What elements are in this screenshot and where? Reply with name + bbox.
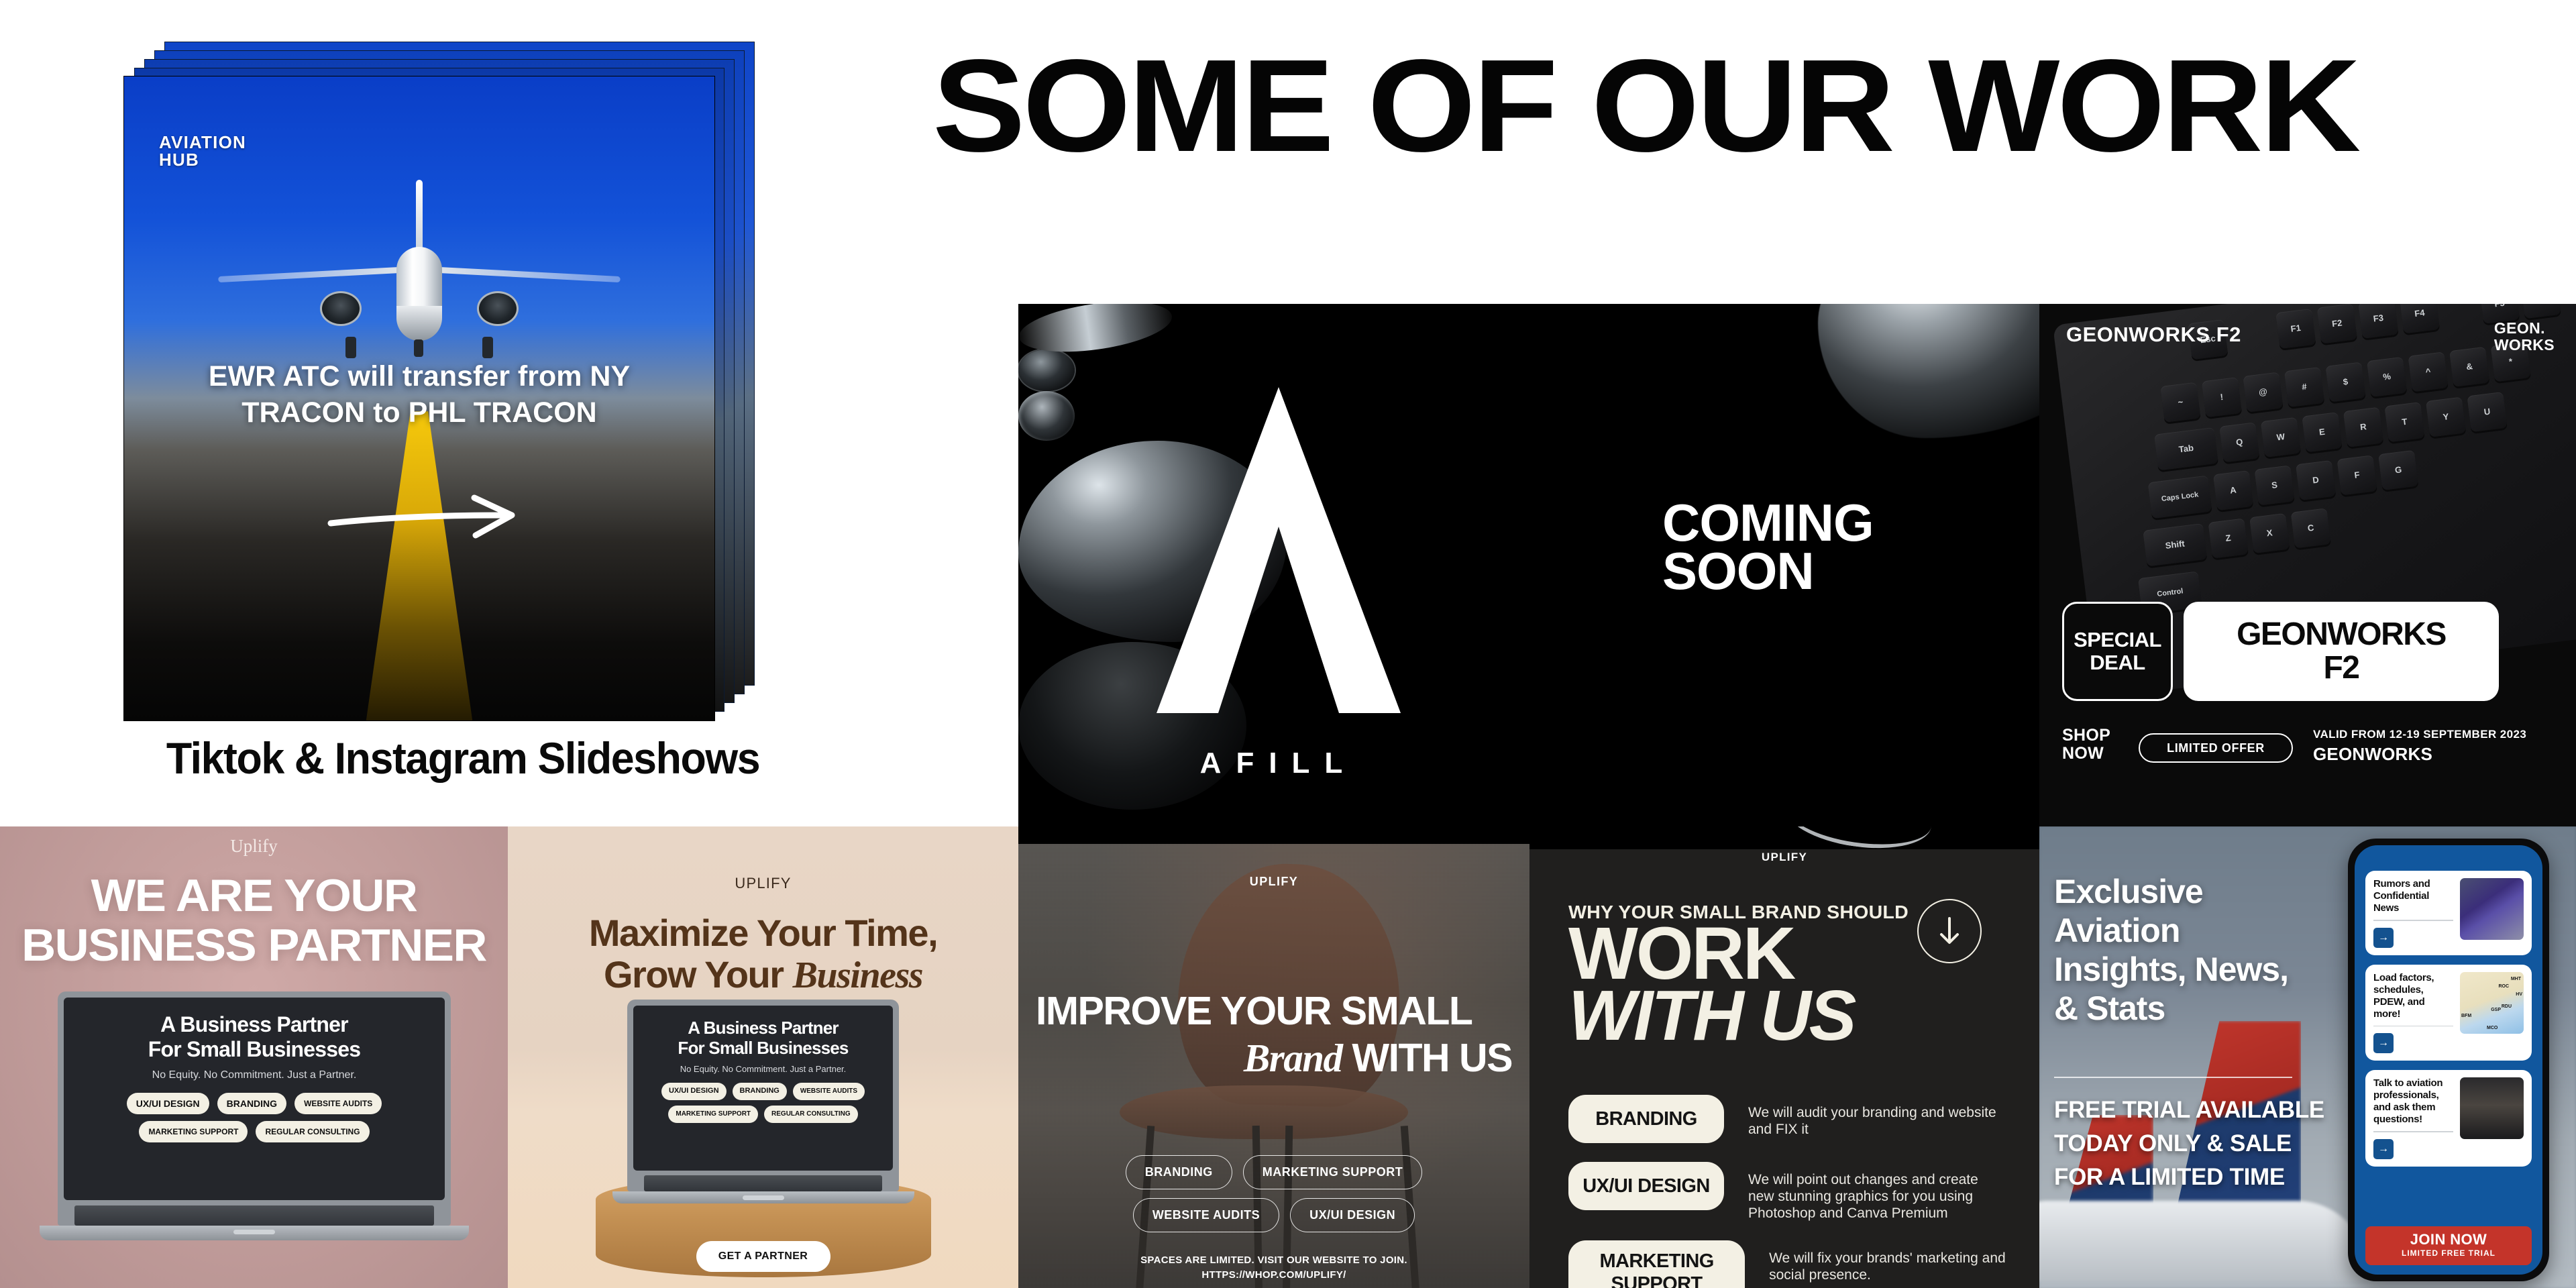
shop-now-label[interactable]: SHOP NOW bbox=[2062, 727, 2110, 763]
laptop-mockup: A Business Partner For Small Businesses … bbox=[627, 1000, 899, 1203]
key-6: ^ bbox=[2408, 352, 2449, 392]
aviation-offer-panel[interactable]: Exclusive Aviation Insights, News, & Sta… bbox=[2039, 826, 2576, 1288]
slideshow-showcase: AVIATION HUB EWR ATC will transfer from … bbox=[124, 42, 802, 786]
service-pill[interactable]: UX/UI DESIGN bbox=[661, 1083, 727, 1100]
card-title: Rumors and Confidential News bbox=[2373, 878, 2453, 914]
product-line2: F2 bbox=[2237, 651, 2446, 685]
uplify-logo: UPLIFY bbox=[508, 875, 1018, 892]
aviation-headline-line4: & Stats bbox=[2054, 989, 2336, 1028]
service-pill[interactable]: WEBSITE AUDITS bbox=[1133, 1198, 1279, 1232]
key-z: Z bbox=[2208, 518, 2249, 558]
key-f: F bbox=[2337, 455, 2377, 495]
join-now-sublabel: LIMITED FREE TRIAL bbox=[2365, 1248, 2532, 1258]
brand-line-1: AVIATION bbox=[159, 133, 246, 151]
list-item: BRANDING We will audit your branding and… bbox=[1568, 1095, 2012, 1143]
geonworks-logo: GEON. WORKS bbox=[2494, 320, 2555, 354]
bottom-showcase-row: Uplify WE ARE YOUR BUSINESS PARTNER A Bu… bbox=[0, 826, 2576, 1288]
chair-headline: IMPROVE YOUR SMALL Brand WITH US bbox=[1036, 987, 1512, 1081]
card-title: Load factors, schedules, PDEW, and more! bbox=[2373, 972, 2453, 1020]
afill-coming-soon-panel[interactable]: AFILL COMING SOON bbox=[1018, 304, 2039, 826]
service-pill[interactable]: UX/UI DESIGN bbox=[1290, 1198, 1415, 1232]
list-item[interactable]: Load factors, schedules, PDEW, and more!… bbox=[2365, 965, 2532, 1061]
map-label: ROC bbox=[2498, 984, 2509, 989]
screen-title-line1: A Business Partner bbox=[76, 1012, 433, 1037]
service-pill[interactable]: MARKETING SUPPORT bbox=[1243, 1155, 1423, 1189]
list-item: UX/UI DESIGN We will point out changes a… bbox=[1568, 1162, 2012, 1222]
laptop-mockup: A Business Partner For Small Businesses … bbox=[58, 991, 451, 1240]
subhead-line1: FREE TRIAL AVAILABLE bbox=[2054, 1093, 2336, 1127]
geonworks-title: GEONWORKS F2 bbox=[2066, 323, 2241, 347]
coming-soon-text: COMING SOON bbox=[1662, 498, 1984, 595]
valid-from-text: VALID FROM 12-19 SEPTEMBER 2023 bbox=[2313, 728, 2526, 741]
key-4: $ bbox=[2325, 362, 2365, 402]
work-headline-line2: WITH US bbox=[1568, 982, 1855, 1049]
service-tag[interactable]: UX/UI DESIGN bbox=[1568, 1162, 1724, 1210]
uplify-logo-serif: Uplify bbox=[0, 836, 508, 857]
shop-line1: SHOP bbox=[2062, 727, 2110, 745]
shop-line2: NOW bbox=[2062, 745, 2110, 763]
geonworks-promo-panel[interactable]: Esc F1 F2 F3 F4 F5 F6 ~ ! @ # $ % ^ & * … bbox=[2039, 304, 2576, 826]
map-label: RDU bbox=[2502, 1004, 2512, 1009]
key-y: Y bbox=[2426, 397, 2466, 437]
chair-headline-italic: Brand bbox=[1244, 1036, 1342, 1080]
key-1: ! bbox=[2202, 377, 2242, 417]
service-list: BRANDING We will audit your branding and… bbox=[1568, 1095, 2012, 1288]
key-e: E bbox=[2302, 412, 2342, 452]
aviation-hub-logo: AVIATION HUB bbox=[159, 133, 246, 168]
key-f4: F4 bbox=[2400, 304, 2440, 333]
aviation-subheadline: FREE TRIAL AVAILABLE TODAY ONLY & SALE F… bbox=[2054, 1093, 2336, 1194]
footer-line1: SPACES ARE LIMITED. VISIT OUR WEBSITE TO… bbox=[1018, 1253, 1529, 1268]
key-g: G bbox=[2378, 450, 2418, 490]
key-d: D bbox=[2296, 460, 2336, 500]
subhead-line3: FOR A LIMITED TIME bbox=[2054, 1161, 2336, 1194]
footer-url[interactable]: HTTPS://WHOP.COM/UPLIFY/ bbox=[1018, 1268, 1529, 1283]
key-c: C bbox=[2291, 508, 2331, 548]
arrow-right-icon[interactable]: → bbox=[2373, 1139, 2394, 1159]
divider bbox=[2054, 1077, 2292, 1078]
work-showcase-canvas: SOME OF OUR WORK AVIATION bbox=[0, 0, 2576, 1288]
airplane-fuselage-icon bbox=[2039, 1201, 2368, 1281]
key-caps-lock: Caps Lock bbox=[2148, 476, 2212, 519]
key-f3: F3 bbox=[2358, 304, 2398, 339]
key-t: T bbox=[2384, 402, 2424, 442]
service-pill[interactable]: BRANDING bbox=[217, 1093, 286, 1114]
map-label: GSP bbox=[2491, 1008, 2501, 1012]
service-pill[interactable]: WEBSITE AUDITS bbox=[793, 1083, 865, 1100]
service-pill[interactable]: REGULAR CONSULTING bbox=[256, 1121, 369, 1142]
key-7: & bbox=[2449, 347, 2489, 387]
business-partner-pink-panel[interactable]: Uplify WE ARE YOUR BUSINESS PARTNER A Bu… bbox=[0, 826, 508, 1288]
beige-headline: Maximize Your Time, Grow Your Business bbox=[528, 912, 998, 996]
liquid-droplet-icon bbox=[1018, 350, 1075, 391]
list-item[interactable]: Rumors and Confidential News → bbox=[2365, 871, 2532, 955]
page-title: SOME OF OUR WORK bbox=[932, 52, 2576, 166]
key-q: Q bbox=[2219, 422, 2259, 462]
key-tilde: ~ bbox=[2160, 382, 2200, 423]
pink-headline: WE ARE YOUR BUSINESS PARTNER bbox=[0, 871, 508, 970]
service-tag[interactable]: MARKETING SUPPORT bbox=[1568, 1240, 1745, 1288]
service-pill[interactable]: WEBSITE AUDITS bbox=[294, 1093, 382, 1114]
brand-line-2: HUB bbox=[159, 151, 246, 168]
maximize-time-beige-panel[interactable]: UPLIFY Maximize Your Time, Grow Your Bus… bbox=[508, 826, 1018, 1288]
panel-top-strip bbox=[1529, 826, 2039, 849]
chair-headline-line1: IMPROVE YOUR SMALL bbox=[1036, 987, 1512, 1034]
key-f2: F2 bbox=[2317, 304, 2357, 343]
map-label: MCO bbox=[2487, 1026, 2498, 1030]
key-u: U bbox=[2467, 392, 2507, 432]
arrow-down-icon[interactable] bbox=[1917, 899, 1982, 963]
subhead-line2: TODAY ONLY & SALE bbox=[2054, 1127, 2336, 1161]
beige-headline-line2: Grow Your Business bbox=[528, 954, 998, 996]
screen-subtitle: No Equity. No Commitment. Just a Partner… bbox=[76, 1069, 433, 1081]
screen-title-line2: For Small Businesses bbox=[643, 1038, 883, 1058]
phone-mockup: Rumors and Confidential News → Load fact… bbox=[2348, 839, 2549, 1281]
aviation-headline: Exclusive Aviation Insights, News, & Sta… bbox=[2054, 872, 2336, 1028]
join-now-label: JOIN NOW bbox=[2365, 1232, 2532, 1248]
key-f1: F1 bbox=[2275, 309, 2316, 349]
geon-mark-line1: GEON. bbox=[2494, 320, 2555, 337]
join-now-button[interactable]: JOIN NOW LIMITED FREE TRIAL bbox=[2365, 1226, 2532, 1265]
service-description: We will point out changes and create new… bbox=[1748, 1162, 2003, 1222]
afill-wordmark: AFILL bbox=[1138, 747, 1419, 780]
map-label: HV bbox=[2516, 992, 2522, 997]
list-item[interactable]: Talk to aviation professionals, and ask … bbox=[2365, 1070, 2532, 1167]
uplify-logo: UPLIFY bbox=[1018, 875, 1529, 889]
slideshow-front-card[interactable]: AVIATION HUB EWR ATC will transfer from … bbox=[124, 76, 714, 720]
divider bbox=[2373, 1026, 2453, 1027]
key-w: W bbox=[2261, 417, 2301, 458]
divider bbox=[2373, 1131, 2453, 1132]
uplify-logo: UPLIFY bbox=[1529, 851, 2039, 864]
chair-headline-plain: WITH US bbox=[1342, 1036, 1512, 1080]
service-pill[interactable]: BRANDING bbox=[1126, 1155, 1232, 1189]
key-tab: Tab bbox=[2154, 427, 2218, 471]
right-arrow-icon bbox=[325, 492, 527, 546]
chair-headline-line2: Brand WITH US bbox=[1036, 1034, 1512, 1081]
pink-headline-line2: BUSINESS PARTNER bbox=[0, 920, 508, 970]
route-map-thumbnail: MHT ROC HV RDU GSP BFM MCO bbox=[2460, 972, 2524, 1034]
service-pill[interactable]: REGULAR CONSULTING bbox=[764, 1106, 858, 1123]
beige-headline-plain: Grow Your bbox=[604, 953, 793, 996]
improve-brand-chair-panel[interactable]: UPLIFY IMPROVE YOUR SMALL Brand WITH US … bbox=[1018, 826, 1529, 1288]
valid-brand-text: GEONWORKS bbox=[2313, 744, 2432, 765]
liquid-blob-icon bbox=[1818, 304, 2039, 438]
riyadh-air-photo bbox=[2460, 878, 2524, 940]
service-pill[interactable]: MARKETING SUPPORT bbox=[139, 1121, 248, 1142]
arrow-right-icon[interactable]: → bbox=[2373, 1033, 2394, 1053]
phone-screen: Rumors and Confidential News → Load fact… bbox=[2355, 845, 2542, 1275]
screen-subtitle: No Equity. No Commitment. Just a Partner… bbox=[643, 1064, 883, 1074]
limited-offer-badge[interactable]: LIMITED OFFER bbox=[2139, 733, 2293, 763]
beige-headline-line1: Maximize Your Time, bbox=[528, 912, 998, 954]
soon-line: SOON bbox=[1662, 547, 1984, 595]
key-3: # bbox=[2284, 367, 2324, 407]
special-label: SPECIAL bbox=[2074, 629, 2161, 651]
product-name-badge: GEONWORKS F2 bbox=[2184, 602, 2499, 701]
aviation-headline-line2: Aviation bbox=[2054, 911, 2336, 950]
service-pill[interactable]: UX/UI DESIGN bbox=[127, 1093, 209, 1114]
get-a-partner-button[interactable]: GET A PARTNER bbox=[696, 1241, 830, 1272]
service-pill[interactable]: MARKETING SUPPORT bbox=[668, 1106, 758, 1123]
screen-title-line2: For Small Businesses bbox=[76, 1037, 433, 1062]
divider bbox=[2373, 920, 2453, 921]
key-2: @ bbox=[2243, 372, 2283, 412]
special-deal-badge[interactable]: SPECIAL DEAL bbox=[2062, 602, 2173, 701]
map-label: MHT bbox=[2511, 977, 2521, 981]
service-tag[interactable]: BRANDING bbox=[1568, 1095, 1724, 1143]
service-pill[interactable]: BRANDING bbox=[733, 1083, 787, 1100]
key-5: % bbox=[2367, 357, 2407, 397]
work-with-us-panel[interactable]: UPLIFY WHY YOUR SMALL BRAND SHOULD WORK … bbox=[1529, 826, 2039, 1288]
key-a: A bbox=[2213, 470, 2253, 511]
pink-headline-line1: WE ARE YOUR bbox=[0, 871, 508, 920]
slideshow-label: Tiktok & Instagram Slideshows bbox=[141, 733, 785, 784]
liquid-droplet-small-icon bbox=[1018, 391, 1075, 441]
chair-service-pills: BRANDING MARKETING SUPPORT WEBSITE AUDIT… bbox=[1018, 1155, 1529, 1232]
card-title: Talk to aviation professionals, and ask … bbox=[2373, 1077, 2453, 1126]
geon-mark-line2: WORKS bbox=[2494, 337, 2555, 354]
service-description: We will audit your branding and website … bbox=[1748, 1095, 2003, 1138]
key-r: R bbox=[2343, 407, 2383, 447]
key-f6: F6 bbox=[2520, 304, 2561, 319]
aviation-headline-line1: Exclusive bbox=[2054, 872, 2336, 911]
key-s: S bbox=[2254, 465, 2294, 505]
arrow-right-icon[interactable]: → bbox=[2373, 928, 2394, 948]
chair-footer-note: SPACES ARE LIMITED. VISIT OUR WEBSITE TO… bbox=[1018, 1253, 1529, 1283]
key-shift: Shift bbox=[2143, 523, 2207, 567]
screen-title-line1: A Business Partner bbox=[643, 1018, 883, 1038]
deal-label: DEAL bbox=[2074, 651, 2161, 674]
coming-line: COMING bbox=[1662, 498, 1984, 547]
beige-headline-italic: Business bbox=[793, 955, 922, 996]
video-call-grid-thumbnail bbox=[2460, 1077, 2524, 1139]
key-x: X bbox=[2249, 513, 2290, 553]
afill-chevron-logo bbox=[1138, 383, 1419, 718]
product-line1: GEONWORKS bbox=[2237, 618, 2446, 651]
service-description: We will fix your brands' marketing and s… bbox=[1769, 1240, 2012, 1283]
map-label: BFM bbox=[2461, 1014, 2471, 1018]
list-item: MARKETING SUPPORT We will fix your brand… bbox=[1568, 1240, 2012, 1288]
aviation-headline-line3: Insights, News, bbox=[2054, 950, 2336, 989]
slide-caption: EWR ATC will transfer from NY TRACON to … bbox=[164, 358, 674, 431]
